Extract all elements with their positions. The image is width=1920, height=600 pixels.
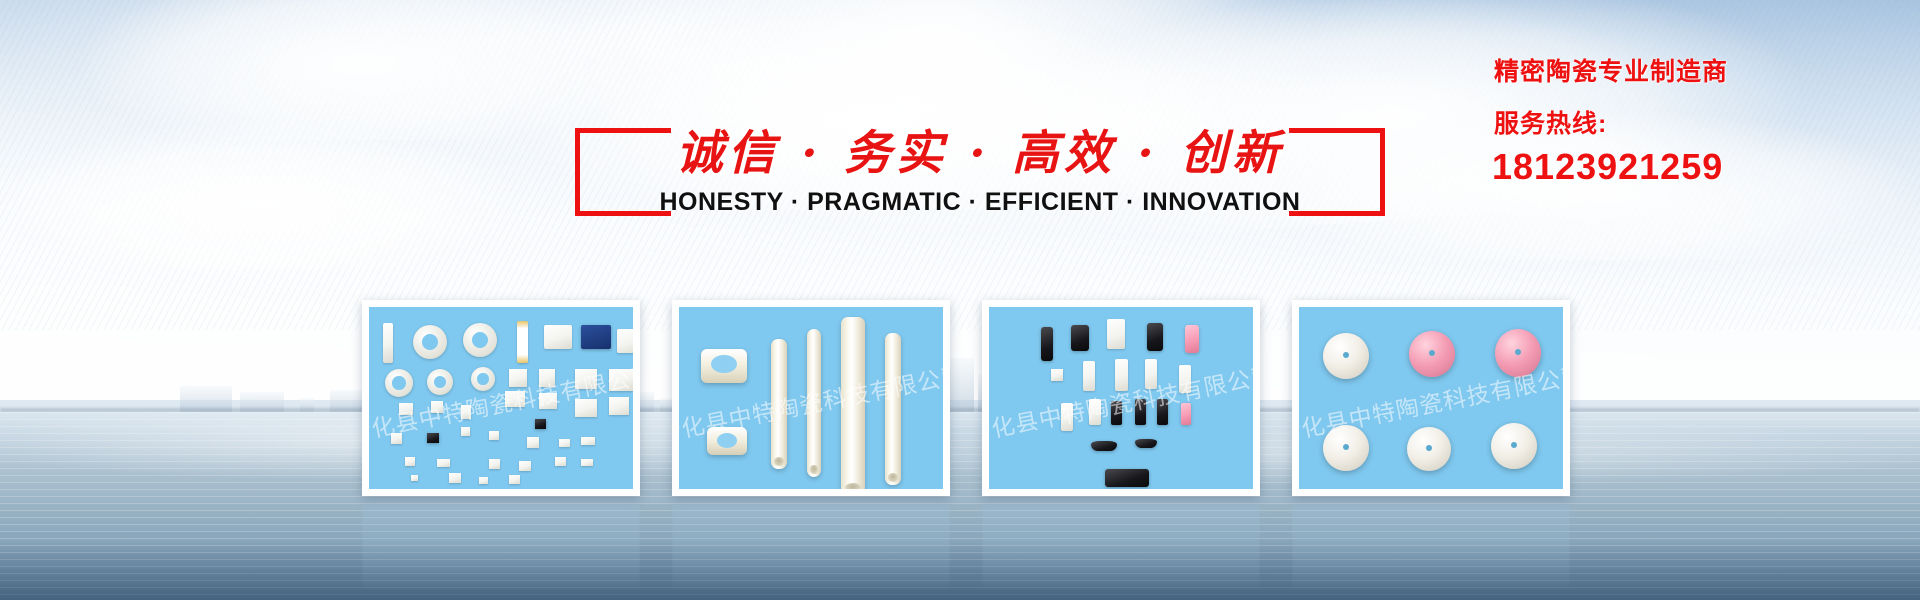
panel-shaped-ceramic-parts[interactable]: 新化县中特陶瓷科技有限公司 [982,300,1260,496]
product-panels: 新化县中特陶瓷科技有限公司 新化县中特陶瓷科技有限公司 [0,0,1920,600]
panel-ceramic-tubes-rings[interactable]: 新化县中特陶瓷科技有限公司 [672,300,950,496]
panel-reflection-3 [982,504,1260,592]
panel-reflection-4 [1292,504,1570,592]
panel-ceramic-discs[interactable]: 新化县中特陶瓷科技有限公司 [1292,300,1570,496]
panel-smd-ceramic-components[interactable]: 新化县中特陶瓷科技有限公司 [362,300,640,496]
panel-reflection-2 [672,504,950,592]
hero-banner: 诚信 · 务实 · 高效 · 创新 HONESTY · PRAGMATIC · … [0,0,1920,600]
panel-reflection-1 [362,504,640,592]
